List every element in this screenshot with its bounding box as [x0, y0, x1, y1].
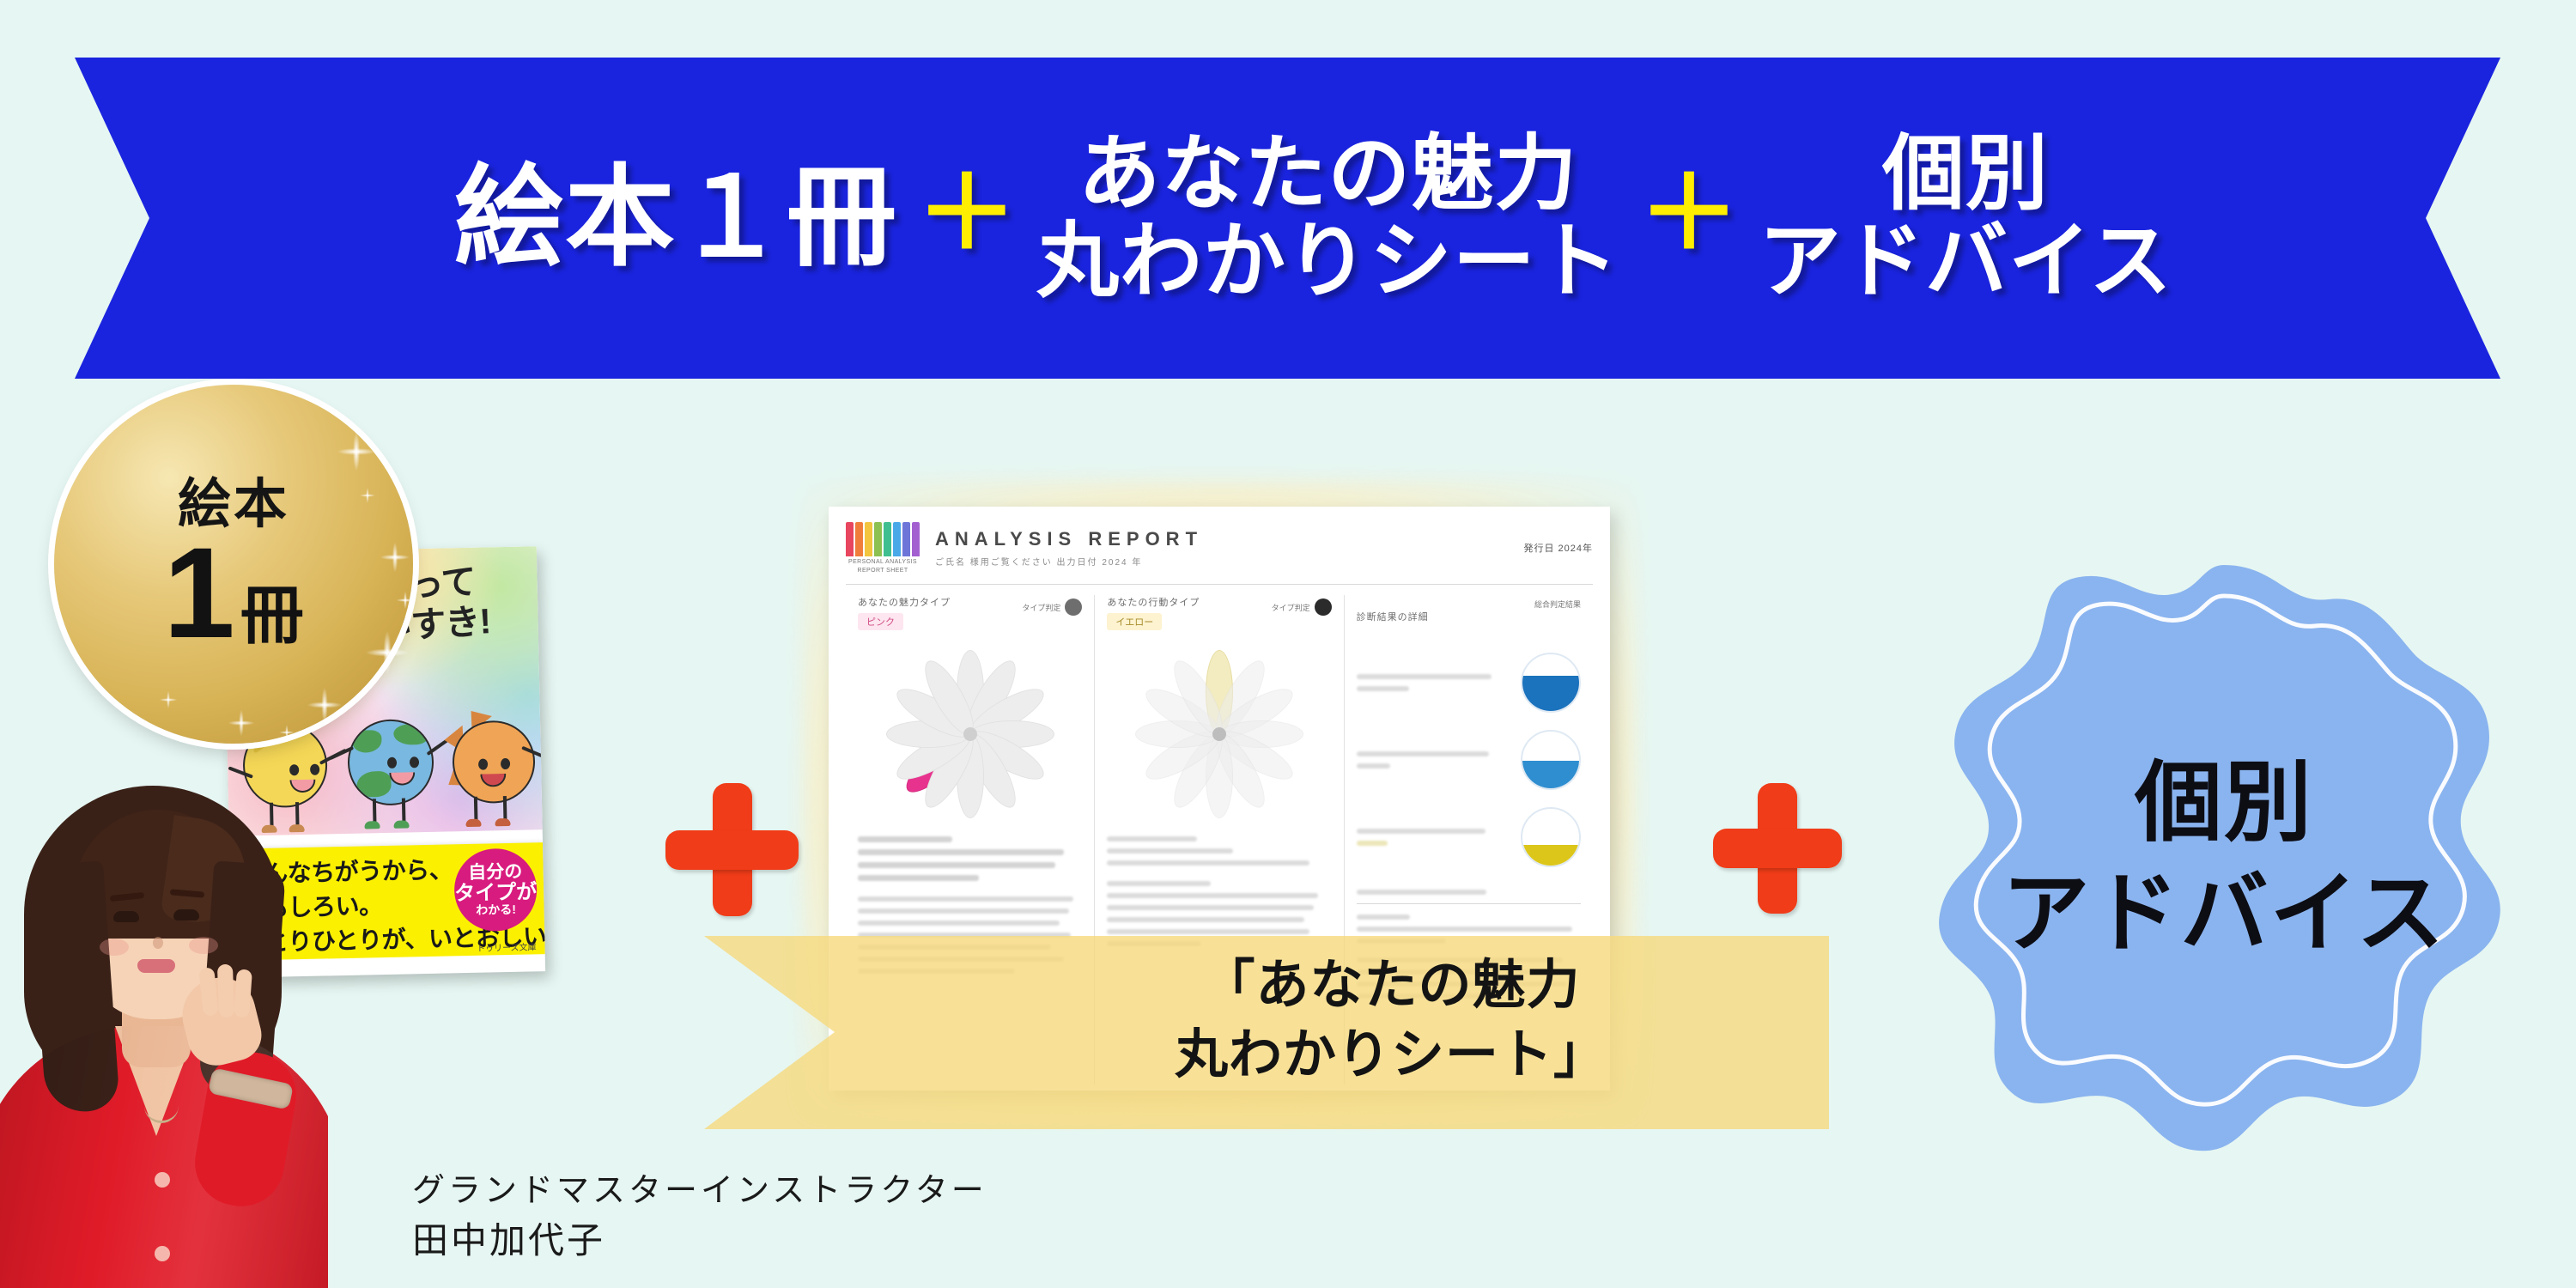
gauge-1-label-line2	[1357, 686, 1409, 691]
header-sheet-line1: あなたの魅力	[1036, 132, 1619, 216]
gold-badge-count: 1 冊	[163, 535, 303, 651]
header-plus-icon-1: ＋	[916, 163, 1018, 273]
sheet-caption-text: 「あなたの魅力 丸わかりシート」	[1116, 951, 1666, 1090]
header-advice-line1: 個別	[1759, 132, 2172, 216]
instructor-photo	[0, 769, 328, 1288]
gold-badge-number: 1	[163, 535, 234, 651]
instructor-caption: グランドマスターインストラクター 田中加代子	[412, 1168, 987, 1267]
gauge-1-label-line1	[1357, 674, 1492, 679]
gauge-row	[1357, 653, 1581, 713]
obi-badge-line-2: タイプが	[454, 881, 538, 904]
report-col2-badge-label: タイプ判定	[1272, 602, 1310, 613]
gauge-3-label-line1	[1357, 829, 1486, 834]
type-dot-icon	[1315, 598, 1332, 616]
report-title-block: ANALYSIS REPORT ご氏名 様用ご覧ください 出力日付 2024 年	[935, 528, 1203, 568]
book-publisher: トゥリーズ文庫	[477, 939, 537, 953]
report-logo-caption-1: PERSONAL ANALYSIS	[846, 559, 920, 565]
sheet-caption-line2: 丸わかりシート」	[1116, 1021, 1666, 1091]
report-logo-icon: PERSONAL ANALYSIS REPORT SHEET	[846, 522, 920, 574]
report-header: PERSONAL ANALYSIS REPORT SHEET ANALYSIS …	[846, 522, 1593, 585]
header-segment-sheet: あなたの魅力 丸わかりシート	[1036, 129, 1619, 307]
report-logo-caption-2: REPORT SHEET	[846, 568, 920, 574]
gauge-3-icon	[1521, 807, 1581, 867]
advice-badge-text: 個別 アドバイス	[1932, 558, 2516, 1159]
action-flower-chart	[1129, 644, 1309, 824]
type-dot-icon	[1065, 598, 1082, 616]
report-col3-footer-heading	[1357, 890, 1487, 895]
gauge-1-label	[1357, 667, 1510, 698]
plus-icon-right	[1713, 783, 1842, 914]
instructor-name: 田中加代子	[412, 1215, 987, 1267]
gold-seal-badge: 絵本 1 冊	[54, 385, 413, 744]
advice-badge-line1: 個別	[2135, 748, 2313, 859]
gauge-2-label-line2	[1357, 763, 1390, 769]
gauge-3-label-line2	[1357, 841, 1388, 846]
report-col1-badge-label: タイプ判定	[1022, 602, 1060, 613]
report-subtitle: ご氏名 様用ご覧ください 出力日付 2024 年	[935, 555, 1203, 568]
report-col2-body	[1107, 836, 1331, 946]
header-plus-icon-2: ＋	[1638, 163, 1740, 273]
report-col3-heading: 診断結果の詳細	[1357, 610, 1581, 623]
gauge-list	[1357, 653, 1581, 867]
header-content: 絵本１冊 ＋ あなたの魅力 丸わかりシート ＋ 個別 アドバイス	[403, 129, 2172, 307]
gauge-2-label	[1357, 744, 1510, 775]
banner-canvas: 絵本１冊 ＋ あなたの魅力 丸わかりシート ＋ 個別 アドバイス みんなちがって…	[0, 0, 2576, 1288]
header-segment-advice: 個別 アドバイス	[1759, 129, 2172, 307]
gold-badge-unit: 冊	[240, 584, 304, 647]
report-title: ANALYSIS REPORT	[935, 528, 1203, 550]
advice-badge: 個別 アドバイス	[1932, 558, 2516, 1159]
character-sun-icon	[445, 714, 536, 805]
sheet-caption-ribbon: 「あなたの魅力 丸わかりシート」	[704, 936, 1829, 1129]
gauge-2-label-line1	[1357, 751, 1489, 756]
report-col2-badge: タイプ判定	[1272, 598, 1332, 616]
header-ribbon: 絵本１冊 ＋ あなたの魅力 丸わかりシート ＋ 個別 アドバイス	[75, 58, 2500, 379]
obi-badge-line-1: 自分の	[468, 863, 522, 883]
character-earth-icon	[347, 719, 434, 806]
gauge-row	[1357, 730, 1581, 790]
gauge-row	[1357, 807, 1581, 867]
instructor-role: グランドマスターインストラクター	[412, 1168, 987, 1215]
advice-badge-line2: アドバイス	[2002, 859, 2446, 969]
header-sheet-line2: 丸わかりシート	[1036, 220, 1619, 304]
plus-icon-middle	[665, 783, 799, 916]
obi-badge-line-3: わかる!	[476, 903, 516, 917]
header-segment-book: 絵本１冊	[454, 162, 897, 275]
header-advice-line2: アドバイス	[1759, 220, 2172, 304]
charm-flower-chart	[880, 644, 1060, 824]
report-col2-tag: イエロー	[1107, 613, 1162, 630]
sheet-caption-line1: 「あなたの魅力	[1116, 951, 1666, 1021]
gauge-2-icon	[1521, 730, 1581, 790]
gauge-1-icon	[1521, 653, 1581, 713]
gauge-3-label	[1357, 822, 1510, 853]
report-date: 発行日 2024年	[1523, 541, 1593, 555]
report-col3-right-label: 総合判定結果	[1534, 598, 1581, 610]
report-col1-badge: タイプ判定	[1022, 598, 1082, 616]
report-col3-right-label-wrap: 総合判定結果	[1357, 598, 1581, 610]
report-col1-tag: ピンク	[858, 613, 903, 630]
